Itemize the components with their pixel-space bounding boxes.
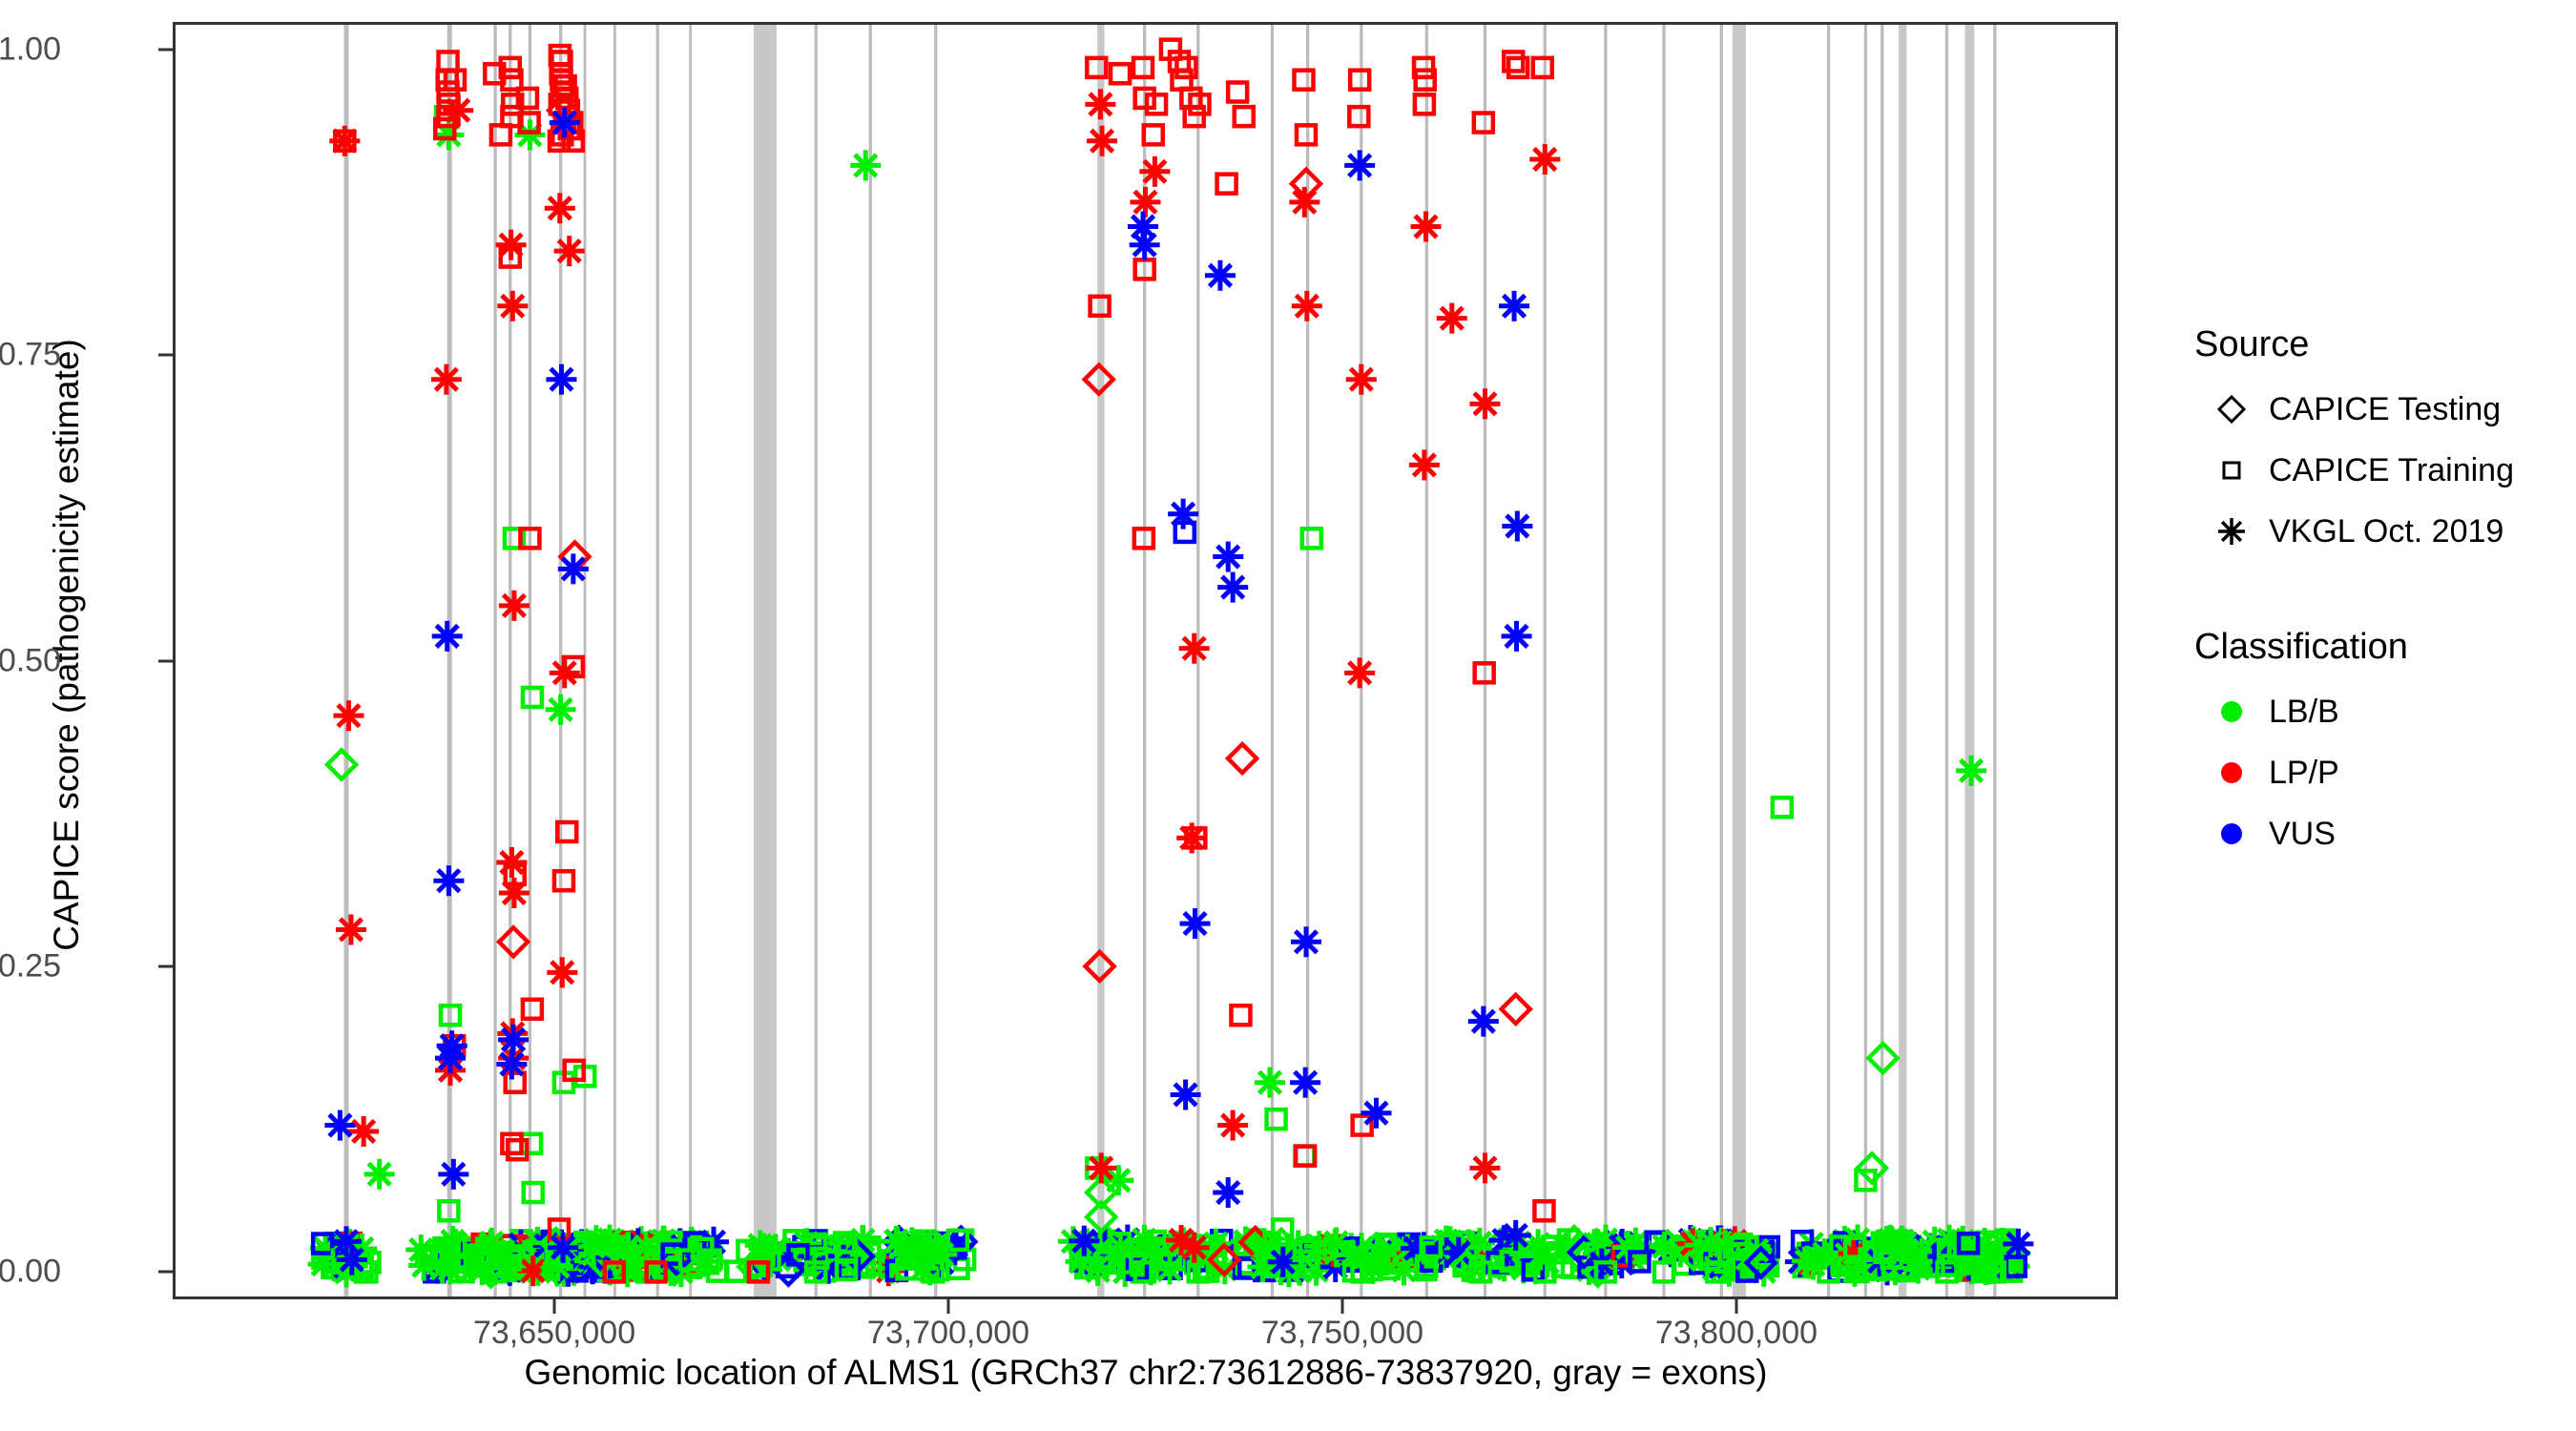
marker-square [1295,71,1314,90]
scatter-canvas [176,25,2115,1296]
legend: SourceCAPICE TestingCAPICE TrainingVKGL … [2194,324,2576,864]
exon-band [493,25,496,1296]
y-tick-label: 1.00 [0,31,61,68]
y-tick-mark [158,354,173,357]
marker-square [523,1000,542,1019]
exon-band [1733,25,1746,1296]
legend-title-classification: Classification [2194,627,2576,668]
legend-item[interactable]: LB/B [2194,681,2576,742]
marker-square [1144,125,1163,144]
x-tick-mark [947,1299,950,1314]
legend-item-label: LB/B [2269,694,2339,731]
x-tick-label: 73,800,000 [1655,1315,1818,1352]
dot-icon [2221,701,2242,722]
marker-square [523,688,542,707]
legend-item[interactable]: VKGL Oct. 2019 [2194,501,2576,562]
marker-diamond [327,750,356,778]
exon-band [1720,25,1723,1296]
marker-square [1773,798,1792,817]
series-LB-B [327,107,2005,1287]
exon-band [1880,25,1883,1296]
legend-item[interactable]: CAPICE Training [2194,440,2576,501]
exon-band [1899,25,1906,1296]
exon-band [689,25,692,1296]
exon-band [1945,25,1948,1296]
legend-item-label: CAPICE Testing [2269,391,2501,428]
series-LP-P [329,40,1560,1282]
marker-square [1267,1110,1286,1129]
chart-root: CAPICE score (pathogenicity estimate) Ge… [0,0,2576,1431]
marker-square [1302,529,1321,548]
exon-band [529,25,531,1296]
legend-title-source: Source [2194,324,2576,365]
exon-band [1604,25,1607,1296]
exon-band [1827,25,1830,1296]
exon-band [344,25,349,1296]
marker-square [1349,107,1368,126]
exon-band [1662,25,1665,1296]
legend-item-label: VUS [2269,816,2336,853]
marker-square [554,871,573,890]
legend-item-label: CAPICE Training [2269,452,2514,489]
y-tick-mark [158,964,173,967]
exon-band [869,25,872,1296]
marker-square [1533,58,1552,77]
marker-diamond [1502,995,1530,1024]
plot-panel [173,22,2118,1299]
marker-square [1111,64,1130,83]
marker-diamond [499,927,528,956]
blue-dot-icon [2194,812,2269,856]
x-tick-label: 73,750,000 [1261,1315,1423,1352]
exon-band [1964,25,1974,1296]
exon-band [815,25,818,1296]
legend-item-label: LP/P [2269,755,2339,792]
x-tick-label: 73,650,000 [473,1315,635,1352]
exon-band [1864,25,1867,1296]
square-outline-icon [2194,448,2269,492]
y-tick-mark [158,48,173,51]
square-outline-icon [2224,463,2239,478]
exon-band [754,25,777,1296]
marker-diamond [1228,744,1257,773]
marker-square [1147,94,1166,114]
marker-square [524,1183,543,1202]
legend-item-label: VKGL Oct. 2019 [2269,513,2503,550]
y-tick-label: 0.25 [0,947,61,985]
diamond-outline-icon [2219,397,2244,422]
exon-band [1271,25,1274,1296]
marker-square [1228,82,1247,101]
marker-square [1415,94,1434,114]
legend-item[interactable]: CAPICE Testing [2194,379,2576,440]
exon-band [1993,25,1996,1296]
exon-band [1484,25,1486,1296]
green-dot-icon [2194,690,2269,734]
exon-band [1544,25,1547,1296]
x-tick-label: 73,700,000 [867,1315,1029,1352]
exon-band [447,25,452,1296]
y-tick-label: 0.00 [0,1254,61,1291]
x-tick-mark [553,1299,556,1314]
series-VUS [324,108,1532,1275]
marker-square [1235,107,1254,126]
exon-band [934,25,937,1296]
legend-item[interactable]: LP/P [2194,742,2576,803]
x-axis-title: Genomic location of ALMS1 (GRCh37 chr2:7… [173,1353,2119,1393]
red-dot-icon [2194,751,2269,795]
plot-area [176,25,2115,1296]
y-tick-label: 0.50 [0,642,61,679]
dot-icon [2221,762,2242,783]
exon-band [613,25,616,1296]
y-tick-mark [158,1271,173,1274]
dot-icon [2221,823,2242,844]
marker-square [1217,175,1236,194]
y-tick-mark [158,659,173,662]
asterisk-icon [2194,509,2269,553]
legend-item[interactable]: VUS [2194,803,2576,864]
exon-band [1097,25,1104,1296]
y-tick-label: 0.75 [0,337,61,374]
exon-band [656,25,659,1296]
exon-band [1196,25,1199,1296]
x-tick-mark [1340,1299,1343,1314]
diamond-outline-icon [2194,387,2269,431]
marker-square [1231,1006,1250,1025]
x-tick-mark [1735,1299,1737,1314]
exon-band [509,25,511,1296]
